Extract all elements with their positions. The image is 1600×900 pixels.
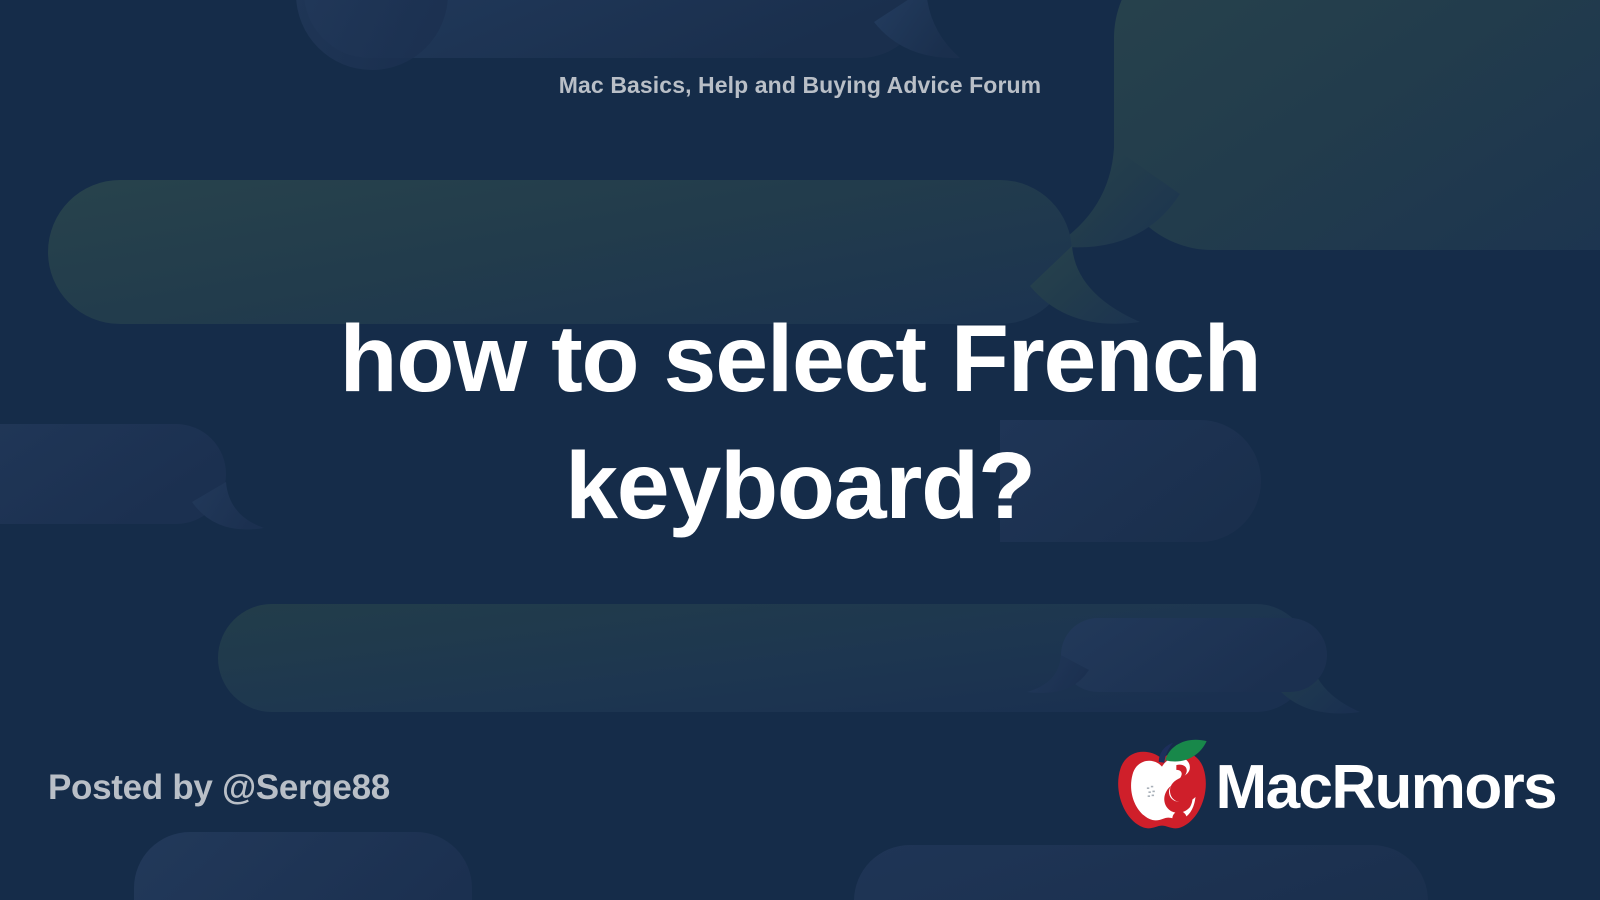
forum-name: Mac Basics, Help and Buying Advice Forum <box>0 72 1600 99</box>
posted-by-label: Posted by @Serge88 <box>48 768 390 808</box>
macrumors-wordmark: MacRumors <box>1216 757 1556 819</box>
macrumors-brand-lockup: MacRumors <box>1114 735 1556 835</box>
card-content: Mac Basics, Help and Buying Advice Forum… <box>0 0 1600 900</box>
macrumors-apple-question-mark-logo <box>1114 738 1210 832</box>
thread-title: how to select French keyboard? <box>130 296 1470 551</box>
social-share-card: Mac Basics, Help and Buying Advice Forum… <box>0 0 1600 900</box>
